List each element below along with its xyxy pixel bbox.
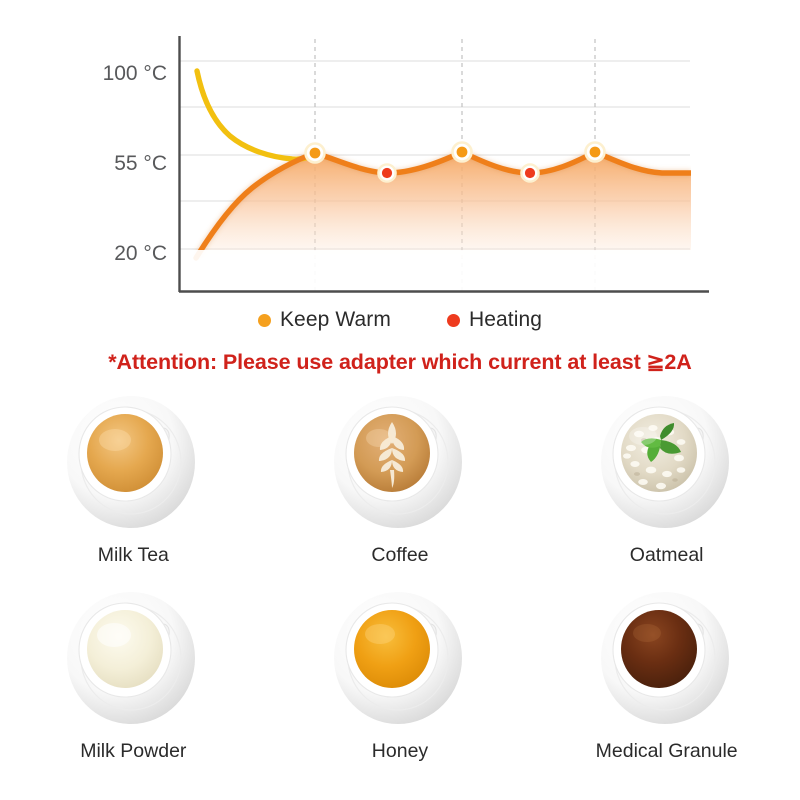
- marker-keep-warm[interactable]: [306, 144, 325, 163]
- legend-label-keep-warm: Keep Warm: [280, 308, 391, 332]
- cup-milk-tea-icon: [57, 392, 209, 538]
- beverage-item-oatmeal[interactable]: Oatmeal: [547, 392, 787, 588]
- y-tick-label-55: 55 °C: [114, 152, 167, 175]
- chart-canvas: 100 °C 55 °C 20 °C: [0, 0, 800, 305]
- beverage-label: Milk Tea: [98, 544, 169, 567]
- cup-oatmeal-icon: [591, 392, 743, 538]
- cup-medical-granule-icon: [591, 588, 743, 734]
- beverage-item-milk-tea[interactable]: Milk Tea: [13, 392, 253, 588]
- legend-item-keep-warm[interactable]: Keep Warm: [258, 308, 391, 332]
- beverage-label: Coffee: [371, 544, 428, 567]
- warm-curve-area: [196, 152, 691, 258]
- marker-keep-warm[interactable]: [586, 143, 605, 162]
- beverage-label: Oatmeal: [630, 544, 704, 567]
- legend-dot-icon: [258, 314, 271, 327]
- temperature-chart: 100 °C 55 °C 20 °C: [0, 0, 800, 305]
- beverage-label: Honey: [372, 740, 428, 763]
- cup-milk-powder-icon: [57, 588, 209, 734]
- cup-coffee-icon: [324, 392, 476, 538]
- y-tick-label-20: 20 °C: [114, 242, 167, 265]
- cup-honey-icon: [324, 588, 476, 734]
- attention-note: *Attention: Please use adapter which cur…: [0, 350, 800, 375]
- cooling-curve-line: [197, 71, 315, 159]
- legend-label-heating: Heating: [469, 308, 542, 332]
- beverage-item-milk-powder[interactable]: Milk Powder: [13, 588, 253, 784]
- marker-keep-warm[interactable]: [453, 143, 472, 162]
- y-tick-label-100: 100 °C: [103, 62, 167, 85]
- beverage-label: Milk Powder: [80, 740, 186, 763]
- chart-legend: Keep Warm Heating: [0, 308, 800, 332]
- legend-item-heating[interactable]: Heating: [447, 308, 542, 332]
- marker-heating[interactable]: [521, 164, 538, 181]
- beverage-item-honey[interactable]: Honey: [280, 588, 520, 784]
- beverage-item-medical-granule[interactable]: Medical Granule: [547, 588, 787, 784]
- marker-heating[interactable]: [378, 164, 395, 181]
- beverage-item-coffee[interactable]: Coffee: [280, 392, 520, 588]
- beverage-grid: Milk Tea: [0, 392, 800, 784]
- beverage-label: Medical Granule: [596, 740, 738, 763]
- legend-dot-icon: [447, 314, 460, 327]
